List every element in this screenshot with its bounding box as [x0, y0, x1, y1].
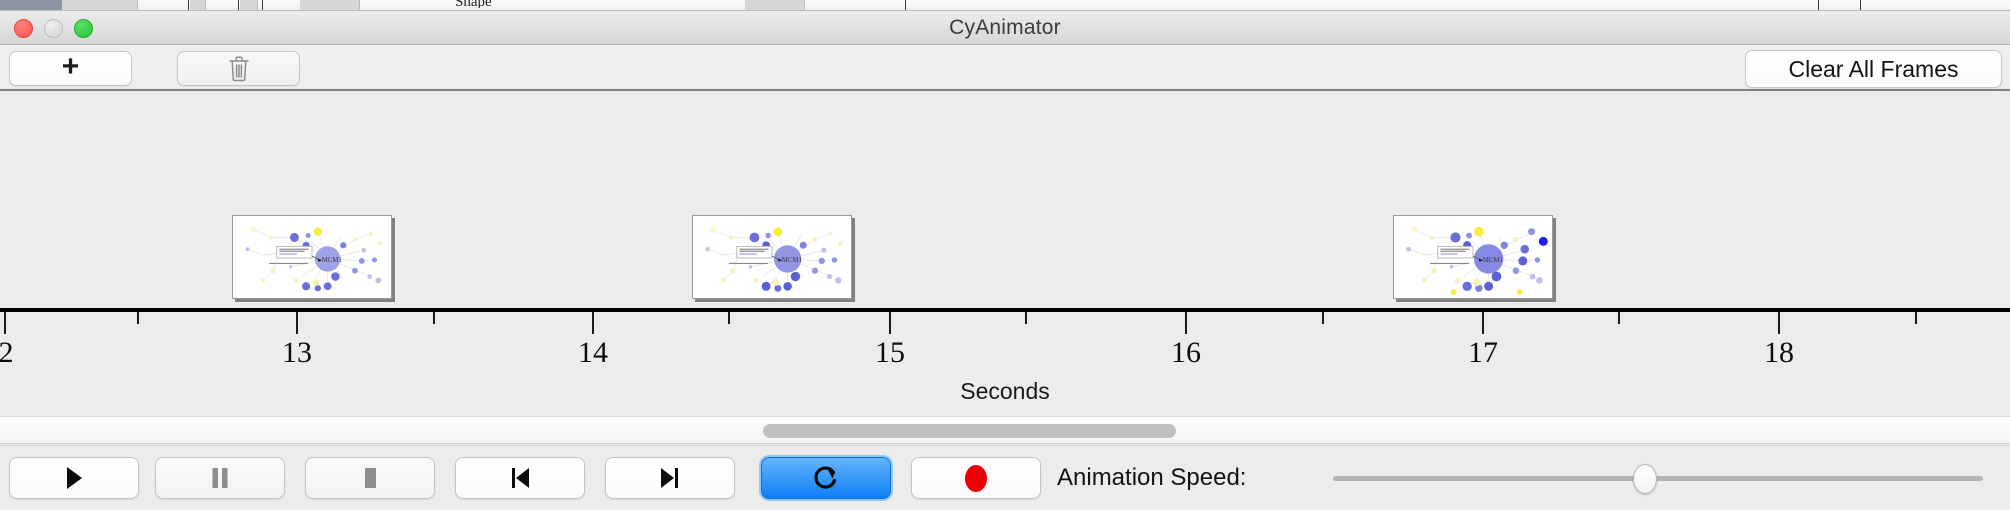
axis-tick-minor: [1025, 312, 1027, 324]
record-button[interactable]: [911, 457, 1041, 499]
loop-button[interactable]: [761, 457, 891, 499]
playback-controls: Animation Speed:: [0, 445, 2010, 510]
animation-speed-slider-knob[interactable]: [1633, 464, 1657, 494]
record-icon: [965, 465, 987, 492]
pause-icon: [209, 465, 231, 491]
svg-text:MCM1: MCM1: [782, 257, 802, 264]
timeline-scrollbar[interactable]: [0, 416, 2010, 444]
animation-speed-slider[interactable]: [1333, 476, 1983, 481]
title-bar: CyAnimator: [0, 11, 2010, 45]
background-cell: [300, 0, 360, 11]
background-cell: [745, 0, 805, 11]
frame-thumbnail-3[interactable]: MCM1: [1393, 215, 1553, 299]
axis-tick-label: 18: [1764, 336, 1794, 370]
axis-tick-label: 13: [282, 336, 312, 370]
clear-all-frames-label: Clear All Frames: [1789, 56, 1959, 83]
background-divider: [1860, 0, 1861, 11]
axis-tick-major: [889, 312, 891, 334]
axis-tick-major: [1185, 312, 1187, 334]
background-window-label: Shape: [455, 0, 492, 8]
axis-tick-major: [1482, 312, 1484, 334]
axis-tick-minor: [1618, 312, 1620, 324]
frames-layer: MCM1: [0, 93, 2010, 308]
window-title: CyAnimator: [0, 11, 2010, 45]
axis-tick-minor: [728, 312, 730, 324]
skip-forward-icon: [658, 465, 682, 491]
previous-frame-button[interactable]: [455, 457, 585, 499]
background-divider: [905, 0, 906, 11]
axis-title: Seconds: [0, 378, 2010, 405]
axis-tick-major: [296, 312, 298, 334]
stop-icon: [360, 465, 380, 491]
background-window: Shape: [0, 0, 2010, 11]
background-divider: [188, 0, 189, 11]
axis-tick-minor: [1915, 312, 1917, 324]
axis-tick-label: 14: [578, 336, 608, 370]
loop-icon: [812, 463, 840, 493]
axis-tick-minor: [433, 312, 435, 324]
add-frame-button[interactable]: +: [9, 51, 132, 86]
background-divider: [262, 0, 263, 11]
background-divider: [1818, 0, 1819, 11]
minimize-button[interactable]: [44, 19, 63, 38]
plus-icon: +: [62, 52, 80, 82]
pause-button[interactable]: [155, 457, 285, 499]
close-button[interactable]: [14, 19, 33, 38]
delete-frame-button[interactable]: [177, 51, 300, 86]
background-cell: [190, 0, 206, 11]
background-selected-cell: [0, 0, 62, 11]
traffic-lights: [14, 11, 93, 45]
background-cell: [62, 0, 138, 11]
zoom-button[interactable]: [74, 19, 93, 38]
trash-icon: [228, 56, 250, 82]
svg-text:MCM1: MCM1: [322, 257, 342, 264]
axis-tick-label: 17: [1468, 336, 1498, 370]
axis-tick-major: [4, 312, 6, 334]
network-thumbnail-graphic: MCM1: [693, 216, 851, 298]
animation-speed-label: Animation Speed:: [1057, 457, 1246, 499]
network-thumbnail-graphic: MCM1: [1394, 216, 1552, 298]
axis-baseline: [0, 308, 2010, 312]
axis-tick-minor: [137, 312, 139, 324]
clear-all-frames-button[interactable]: Clear All Frames: [1745, 50, 2002, 88]
cyanimator-window: Shape CyAnimator + Clear All Frames: [0, 0, 2010, 510]
frame-thumbnail-2[interactable]: MCM1: [692, 215, 852, 299]
background-cell: [240, 0, 258, 11]
axis-tick-major: [1778, 312, 1780, 334]
svg-text:MCM1: MCM1: [1483, 257, 1503, 264]
next-frame-button[interactable]: [605, 457, 735, 499]
axis-tick-label: 2: [0, 336, 14, 370]
scrollbar-thumb[interactable]: [763, 424, 1176, 438]
axis-tick-major: [592, 312, 594, 334]
axis-tick-label: 15: [875, 336, 905, 370]
network-thumbnail-graphic: MCM1: [233, 216, 391, 298]
frame-thumbnail-1[interactable]: MCM1: [232, 215, 392, 299]
skip-back-icon: [508, 465, 532, 491]
timeline-axis: 2 13 14 15 16 17 18 Seconds: [0, 308, 2010, 416]
background-divider: [238, 0, 239, 11]
toolbar: + Clear All Frames: [0, 45, 2010, 91]
stop-button[interactable]: [305, 457, 435, 499]
play-icon: [64, 465, 84, 491]
timeline-panel[interactable]: MCM1: [0, 93, 2010, 416]
play-button[interactable]: [9, 457, 139, 499]
axis-tick-label: 16: [1171, 336, 1201, 370]
axis-tick-minor: [1322, 312, 1324, 324]
